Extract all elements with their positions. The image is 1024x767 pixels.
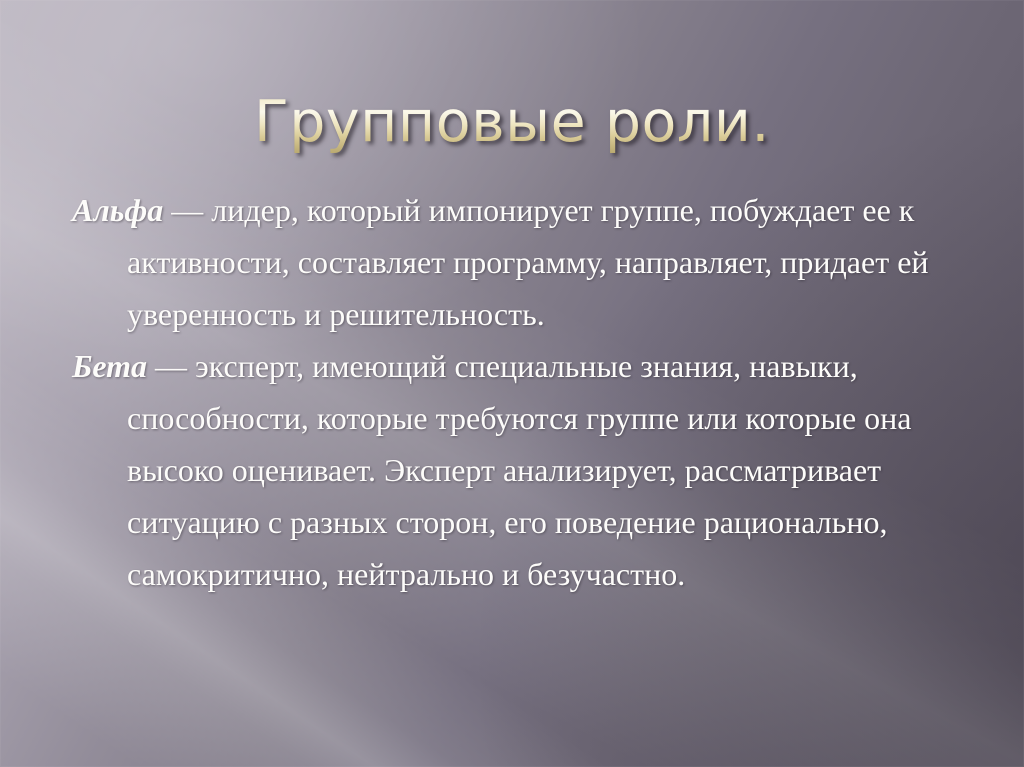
paragraph-beta-lead: Бета — [72, 348, 195, 384]
em-dash-alpha: — [171, 192, 203, 228]
slide-canvas: Групповые роли. Альфа — лидер, который и… [0, 0, 1024, 767]
em-dash-beta: — [155, 348, 187, 384]
term-alpha: Альфа [72, 192, 163, 228]
term-beta: Бета [72, 348, 147, 384]
paragraph-alpha: Альфа — лидер, который импонирует группе… [72, 184, 972, 340]
paragraph-beta: Бета — эксперт, имеющий специальные знан… [72, 340, 972, 600]
paragraph-beta-text: эксперт, имеющий специальные знания, нав… [127, 348, 912, 592]
paragraph-alpha-lead: Альфа — [72, 192, 211, 228]
slide-body: Альфа — лидер, который импонирует группе… [72, 184, 972, 600]
paragraph-alpha-text: лидер, который импонирует группе, побужд… [127, 192, 929, 332]
slide-title: Групповые роли. [0, 92, 1024, 154]
